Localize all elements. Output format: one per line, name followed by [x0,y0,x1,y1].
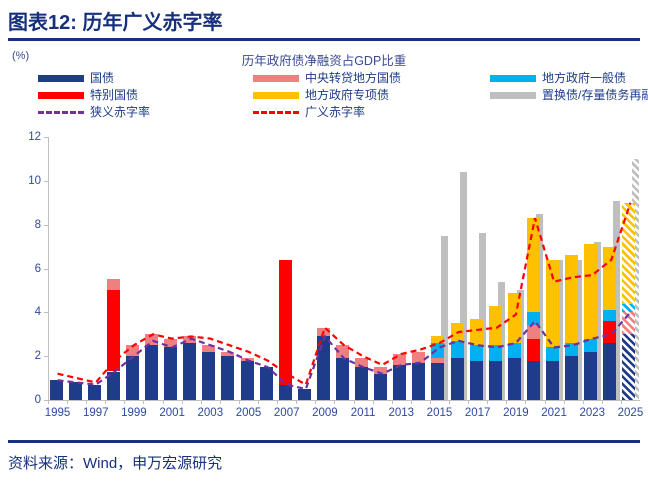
x-tick [86,400,87,404]
y-tick-label: 2 [35,350,41,362]
x-tick-label: 2011 [351,407,376,419]
x-tick-label: 2001 [159,407,185,419]
x-tick-label: 2017 [465,407,491,419]
chart-subtitle: 历年政府债净融资占GDP比重 [0,50,648,69]
x-axis [48,400,640,401]
legend-swatch-local-general-bond [490,75,536,82]
x-tick [430,400,431,404]
x-tick-label: 1997 [83,407,109,419]
y-tick-label: 10 [28,175,41,187]
legend-dash-narrow-deficit-ratio [38,111,84,114]
x-tick-label: 1995 [45,407,71,419]
legend-item-broad-deficit-ratio[interactable]: 广义赤字率 [253,104,401,120]
legend-dash-broad-deficit-ratio [253,111,299,114]
chart-legend: 国债特别国债狭义赤字率 中央转贷地方国债地方政府专项债广义赤字率 地方政府一般债… [0,70,648,120]
y-tick-label: 6 [35,263,41,275]
legend-column-2: 中央转贷地方国债地方政府专项债广义赤字率 [253,70,401,121]
x-tick [392,400,393,404]
y-tick-label: 4 [35,306,41,318]
x-tick [220,400,221,404]
line-series-group [48,137,640,400]
legend-item-local-special-bond[interactable]: 地方政府专项债 [253,87,401,103]
x-tick [334,400,335,404]
x-tick [621,400,622,404]
y-tick-label: 8 [35,219,41,231]
y-tick-label: 12 [28,131,41,143]
x-tick [182,400,183,404]
x-tick [201,400,202,404]
chart-container: (%) 历年政府债净融资占GDP比重 国债特别国债狭义赤字率 中央转贷地方国债地… [0,42,648,437]
source-note: 资料来源：Wind，申万宏源研究 [8,452,222,473]
x-tick [449,400,450,404]
x-tick-label: 2015 [427,407,453,419]
x-tick [354,400,355,404]
legend-swatch-swap-refinancing-bond [490,92,536,99]
legend-label: 狭义赤字率 [90,106,150,118]
x-tick [143,400,144,404]
legend-item-central-relend-local-bond[interactable]: 中央转贷地方国债 [253,70,401,86]
x-tick [277,400,278,404]
legend-item-special-treasury-bond[interactable]: 特别国债 [38,87,150,103]
x-tick [525,400,526,404]
x-tick [373,400,374,404]
x-tick [315,400,316,404]
x-tick-label: 2009 [312,407,338,419]
x-tick-label: 2023 [579,407,605,419]
legend-label: 地方政府专项债 [305,89,389,101]
legend-swatch-local-special-bond [253,92,299,99]
legend-swatch-treasury-bond [38,75,84,82]
legend-label: 中央转贷地方国债 [305,72,401,84]
x-tick [124,400,125,404]
legend-column-3: 地方政府一般债置换债/存量债务再融资 [490,70,648,104]
x-tick-label: 2003 [198,407,224,419]
legend-column-1: 国债特别国债狭义赤字率 [38,70,150,121]
x-tick [583,400,584,404]
x-tick [105,400,106,404]
legend-label: 广义赤字率 [305,106,365,118]
x-tick-label: 2013 [388,407,414,419]
x-tick [296,400,297,404]
legend-item-swap-refinancing-bond[interactable]: 置换债/存量债务再融资 [490,87,648,103]
legend-item-local-general-bond[interactable]: 地方政府一般债 [490,70,648,86]
x-tick-label: 2007 [274,407,300,419]
legend-swatch-special-treasury-bond [38,92,84,99]
legend-item-treasury-bond[interactable]: 国债 [38,70,150,86]
line-狭义赤字率 [58,312,631,389]
legend-label: 特别国债 [90,89,138,101]
legend-label: 置换债/存量债务再融资 [542,89,648,101]
x-tick-label: 2019 [503,407,529,419]
legend-label: 地方政府一般债 [542,72,626,84]
x-tick [487,400,488,404]
plot-area: 024681012 199519971999200120032005200720… [48,137,640,400]
legend-item-narrow-deficit-ratio[interactable]: 狭义赤字率 [38,104,150,120]
x-tick-label: 2021 [541,407,567,419]
title-divider [8,38,640,41]
page-title: 图表12: 历年广义赤字率 [8,6,222,35]
legend-label: 国债 [90,72,114,84]
x-tick [545,400,546,404]
x-tick-label: 1999 [121,407,147,419]
x-tick [48,400,49,404]
x-tick [258,400,259,404]
x-tick [67,400,68,404]
x-tick [468,400,469,404]
footer-divider [8,440,640,443]
x-tick-label: 2005 [236,407,262,419]
x-tick [239,400,240,404]
x-tick [602,400,603,404]
legend-swatch-central-relend-local-bond [253,75,299,82]
x-tick [411,400,412,404]
x-tick [564,400,565,404]
x-tick-label: 2025 [618,407,644,419]
x-tick [506,400,507,404]
x-tick [163,400,164,404]
y-tick-label: 0 [35,394,41,406]
